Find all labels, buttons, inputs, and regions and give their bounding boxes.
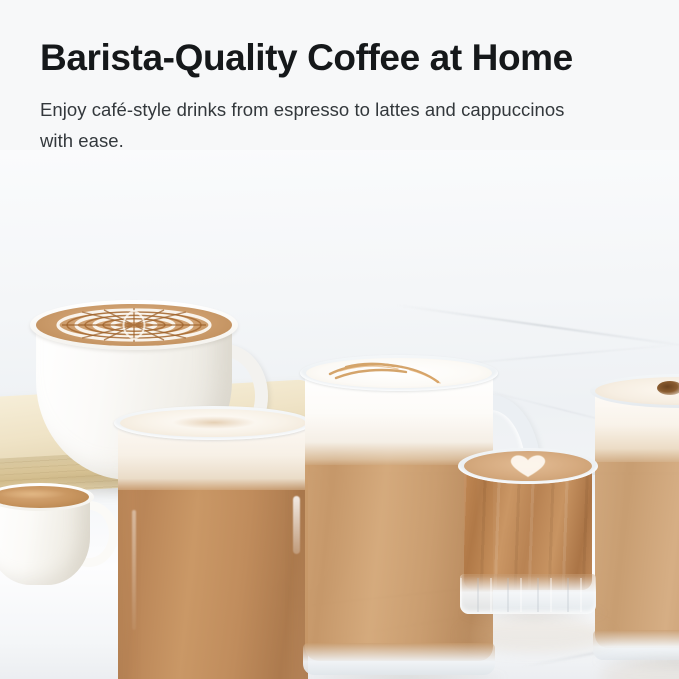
drink-espresso-cup	[0, 483, 100, 595]
drink-glass-mug-latte	[118, 400, 318, 679]
page-subtitle: Enjoy café-style drinks from espresso to…	[40, 94, 585, 156]
glass-facets	[464, 466, 592, 590]
latte-art-caramel-drizzle	[306, 358, 492, 388]
latte-art-rosetta	[36, 304, 232, 346]
hero-copy-block: Barista-Quality Coffee at Home Enjoy caf…	[0, 0, 679, 185]
page-title: Barista-Quality Coffee at Home	[40, 36, 660, 80]
glass-highlight	[293, 496, 300, 554]
glass-base	[593, 630, 679, 660]
drink-glass-right	[595, 368, 679, 668]
glass-highlight	[132, 510, 136, 630]
latte-art-heart	[464, 451, 592, 481]
product-hero-image: Barista-Quality Coffee at Home Enjoy caf…	[0, 0, 679, 679]
drink-glass-heart	[458, 442, 598, 627]
coffee-photo	[0, 150, 679, 679]
foam-surface	[120, 409, 306, 437]
glass-base-facets	[460, 578, 596, 612]
glass-base	[303, 643, 495, 675]
cocoa-dusting	[657, 381, 679, 395]
